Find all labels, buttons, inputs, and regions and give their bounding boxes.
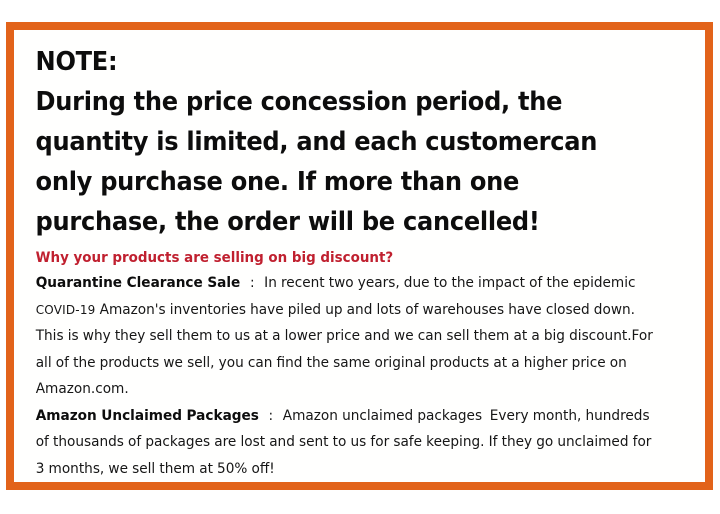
discount-question-heading: Why your products are selling on big dis… — [28, 246, 664, 270]
section-label-quarantine: Quarantine Clearance Sale — [36, 275, 241, 291]
section-colon-quarantine: : — [248, 275, 256, 291]
section-colon-unclaimed: : — [267, 408, 275, 424]
section-body-quarantine-pre: In recent two years, due to the impact o… — [264, 275, 635, 291]
note-banner-content: NOTE: During the price concession period… — [14, 30, 705, 482]
section-quarantine-clearance-sale: Quarantine Clearance Sale:In recent two … — [28, 270, 666, 403]
note-headline: NOTE: During the price concession period… — [28, 42, 655, 242]
section-body-quarantine-post: Amazon's inventories have piled up and l… — [36, 302, 653, 398]
section-body-unclaimed: Amazon unclaimed packages — [283, 408, 482, 424]
section-label-unclaimed: Amazon Unclaimed Packages — [36, 408, 259, 424]
covid-19-label: COVID-19 — [36, 302, 96, 317]
note-banner-box: NOTE: During the price concession period… — [6, 22, 713, 490]
page-root: NOTE: During the price concession period… — [0, 0, 720, 514]
section-amazon-unclaimed-packages: Amazon Unclaimed Packages:Amazon unclaim… — [28, 403, 666, 483]
